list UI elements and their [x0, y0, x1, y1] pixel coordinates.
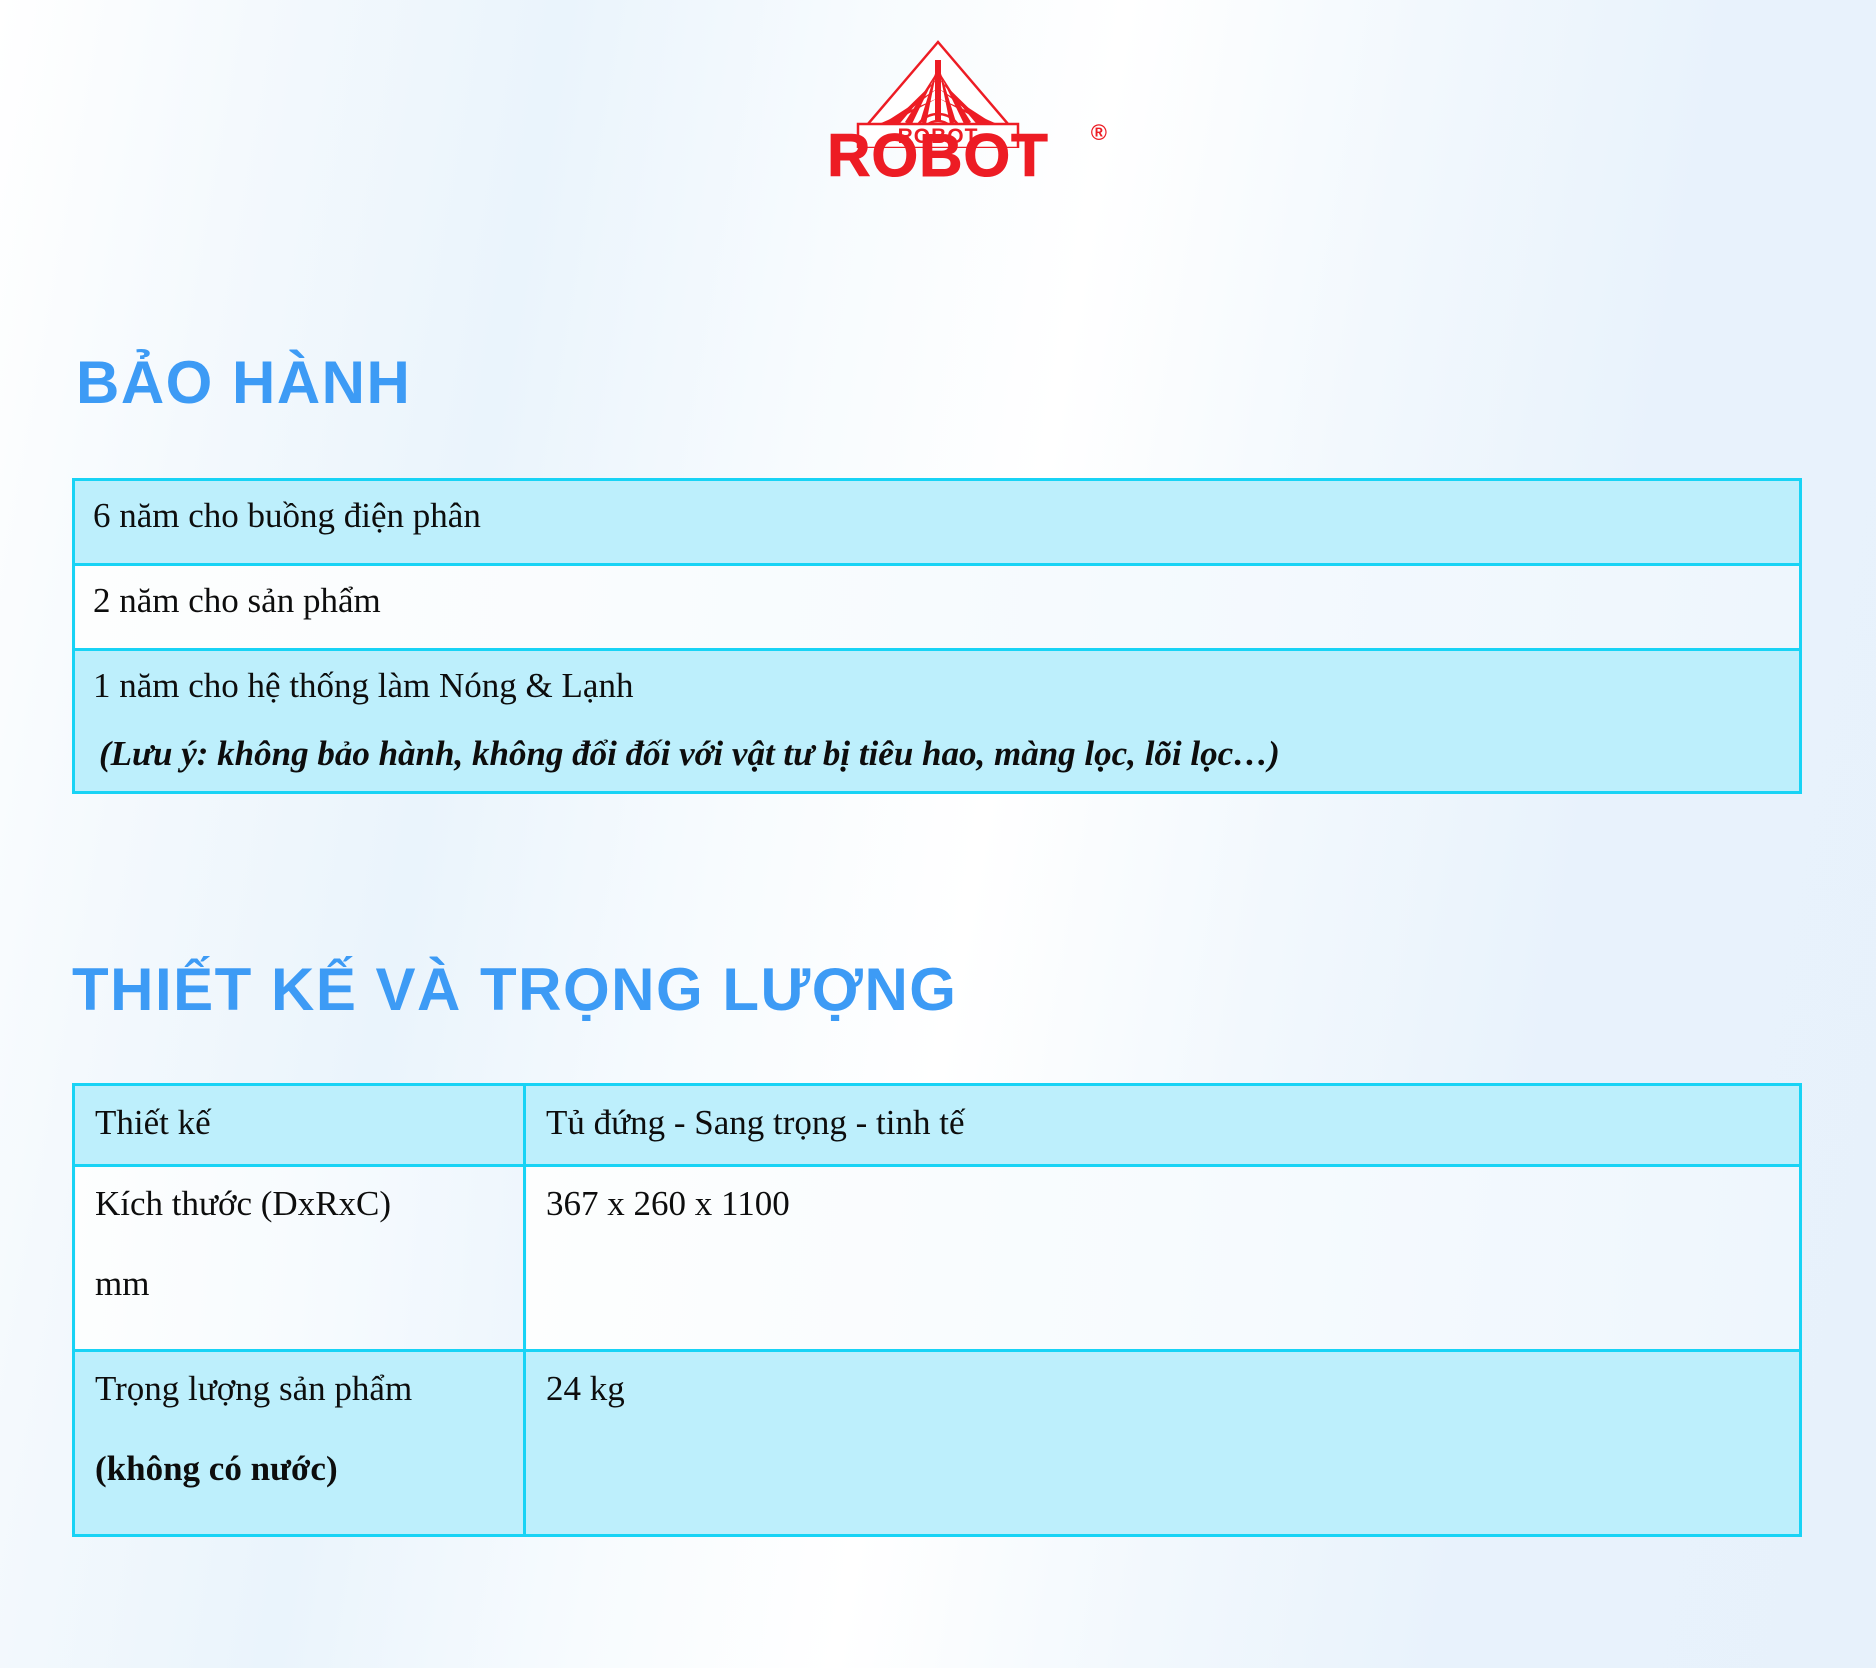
spec-label: Thiết kế — [95, 1103, 211, 1142]
table-row: 1 năm cho hệ thống làm Nóng & Lạnh (Lưu … — [74, 650, 1801, 793]
warranty-cell: 2 năm cho sản phẩm — [74, 565, 1801, 650]
spec-label-unit: mm — [95, 1261, 503, 1307]
warranty-cell: 6 năm cho buồng điện phân — [74, 480, 1801, 565]
warranty-text: 1 năm cho hệ thống làm Nóng & Lạnh — [93, 666, 633, 705]
spec-label: Trọng lượng sản phẩm — [95, 1369, 412, 1408]
spec-value-cell: 367 x 260 x 1100 — [525, 1166, 1801, 1351]
page-title-design: THIẾT KẾ VÀ TRỌNG LƯỢNG — [72, 955, 957, 1024]
design-weight-table: Thiết kế Tủ đứng - Sang trọng - tinh tế … — [72, 1083, 1802, 1537]
warranty-table: 6 năm cho buồng điện phân 2 năm cho sản … — [72, 478, 1802, 794]
logo-wordmark: ROBOT — [773, 126, 1103, 186]
spec-label-cell: Trọng lượng sản phẩm (không có nước) — [74, 1351, 525, 1536]
spec-label-note: (không có nước) — [95, 1446, 503, 1492]
spec-value: 24 kg — [546, 1369, 625, 1408]
spec-value: 367 x 260 x 1100 — [546, 1184, 790, 1223]
brand-logo: ROBOT ROBOT ® — [0, 38, 1876, 198]
table-row: Kích thước (DxRxC) mm 367 x 260 x 1100 — [74, 1166, 1801, 1351]
warranty-note: (Lưu ý: không bảo hành, không đổi đối vớ… — [93, 731, 1781, 777]
warranty-text: 6 năm cho buồng điện phân — [93, 496, 481, 535]
table-row: Trọng lượng sản phẩm (không có nước) 24 … — [74, 1351, 1801, 1536]
warranty-cell: 1 năm cho hệ thống làm Nóng & Lạnh (Lưu … — [74, 650, 1801, 793]
spec-value-cell: 24 kg — [525, 1351, 1801, 1536]
table-row: 6 năm cho buồng điện phân — [74, 480, 1801, 565]
page-title-warranty: BẢO HÀNH — [76, 348, 411, 417]
spec-label-cell: Thiết kế — [74, 1085, 525, 1166]
spec-label-cell: Kích thước (DxRxC) mm — [74, 1166, 525, 1351]
spec-value: Tủ đứng - Sang trọng - tinh tế — [546, 1103, 965, 1142]
table-row: Thiết kế Tủ đứng - Sang trọng - tinh tế — [74, 1085, 1801, 1166]
spec-label: Kích thước (DxRxC) — [95, 1184, 391, 1223]
registered-trademark-icon: ® — [1091, 120, 1107, 146]
warranty-text: 2 năm cho sản phẩm — [93, 581, 381, 620]
table-row: 2 năm cho sản phẩm — [74, 565, 1801, 650]
spec-value-cell: Tủ đứng - Sang trọng - tinh tế — [525, 1085, 1801, 1166]
